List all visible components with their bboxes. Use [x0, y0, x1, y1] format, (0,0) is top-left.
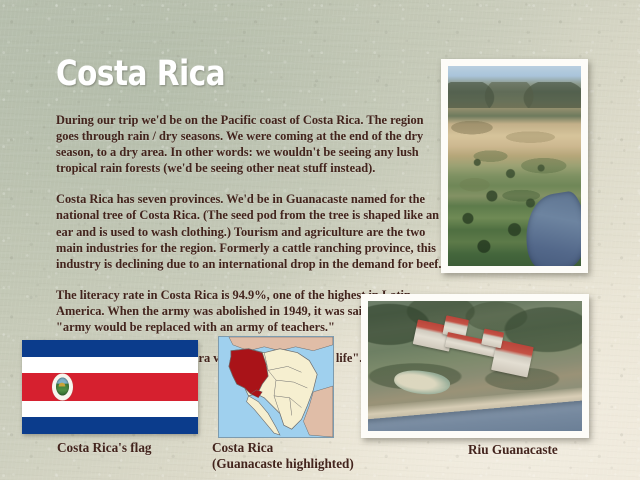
aerial-dry-landscape-photo-frame: [441, 59, 588, 273]
flag-stripe-white-bottom: [22, 401, 198, 417]
costa-rica-flag: [22, 340, 198, 434]
coat-of-arms-icon: [52, 373, 73, 400]
presentation-slide: Costa Rica During our trip we'd be on th…: [0, 0, 640, 480]
page-title: Costa Rica: [56, 54, 225, 94]
caption-map: Costa Rica (Guanacaste highlighted): [212, 440, 354, 472]
map-svg: [219, 337, 333, 437]
riu-guanacaste-resort-photo-frame: [361, 294, 589, 438]
distant-hills: [448, 82, 581, 108]
flag-stripe-white-top: [22, 357, 198, 373]
costa-rica-province-map: [218, 336, 334, 438]
caption-flag: Costa Rica's flag: [57, 440, 152, 456]
flag-stripe-red: [22, 373, 198, 401]
flag-stripe-blue-top: [22, 340, 198, 357]
riu-guanacaste-resort-photo: [368, 301, 582, 431]
caption-riu: Riu Guanacaste: [468, 442, 558, 458]
paragraph-intro: During our trip we'd be on the Pacific c…: [56, 112, 444, 176]
flag-stripe-blue-bottom: [22, 417, 198, 434]
coat-of-arms-emblem: [56, 378, 69, 396]
aerial-dry-landscape-photo: [448, 66, 581, 266]
paragraph-provinces: Costa Rica has seven provinces. We'd be …: [56, 191, 444, 271]
